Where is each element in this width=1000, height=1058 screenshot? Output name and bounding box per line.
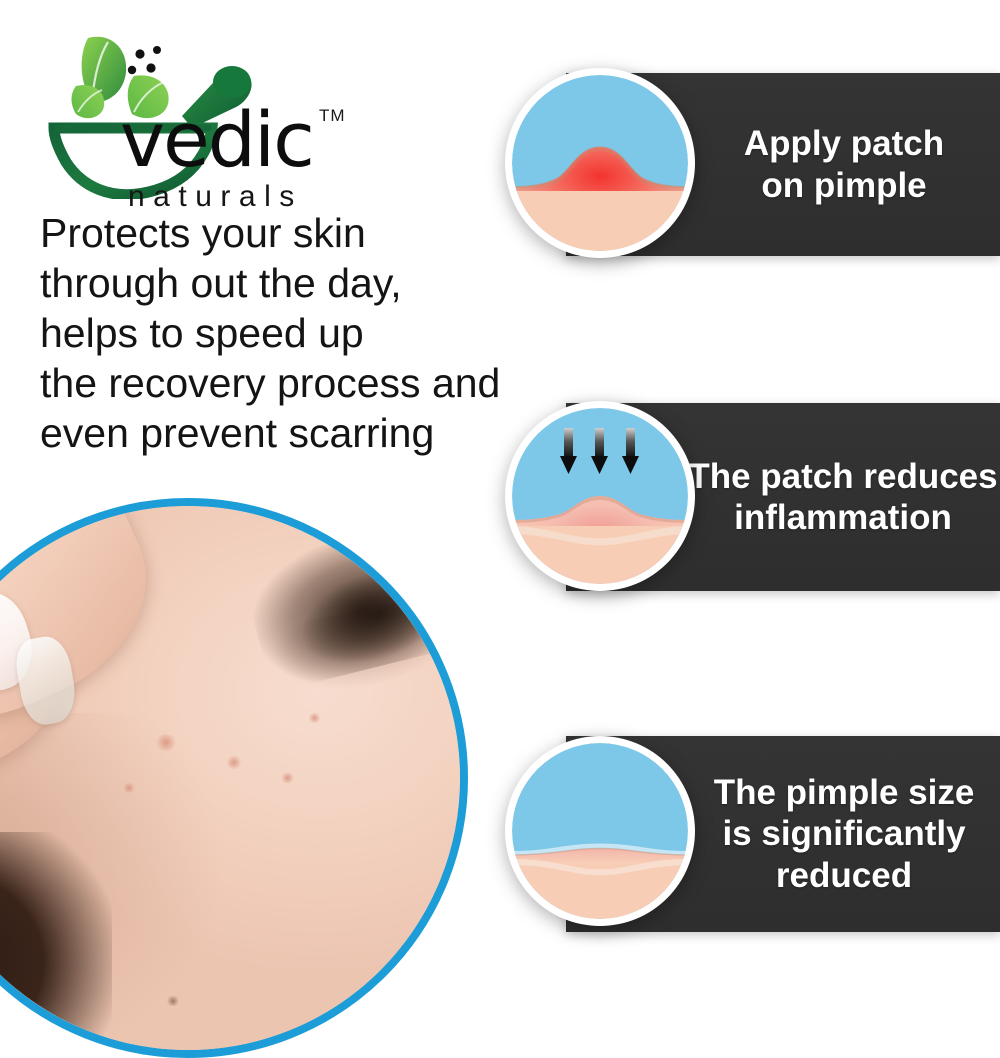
photo-blemish-3 <box>280 773 294 784</box>
step-3-illustration <box>505 736 695 926</box>
photo-blemish-1 <box>155 734 177 750</box>
step-3-line-3: reduced <box>692 855 996 896</box>
brand-name: vedic <box>120 102 313 178</box>
headline-line-2: through out the day, <box>40 258 560 308</box>
photo-blemish-5 <box>308 713 321 723</box>
photo-blemish-4 <box>123 783 135 793</box>
headline-line-5: even prevent scarring <box>40 408 560 458</box>
step-2-illustration <box>505 401 695 591</box>
step-1-illustration <box>505 68 695 258</box>
headline-line-3: helps to speed up <box>40 308 560 358</box>
brand-logo: vedic TM naturals <box>36 24 336 199</box>
product-photo <box>0 498 468 1058</box>
step-1-line-2: on pimple <box>694 165 994 206</box>
headline-line-1: Protects your skin <box>40 208 560 258</box>
photo-hair-left <box>0 832 112 1050</box>
pimple-pressed-by-arrows-icon <box>512 408 688 584</box>
step-3-line-1: The pimple size <box>692 772 996 813</box>
headline-text: Protects your skin through out the day, … <box>40 208 560 458</box>
step-2-line-1: The patch reduces <box>686 456 1000 497</box>
pimple-flat-healed-icon <box>512 743 688 919</box>
photo-inner <box>0 506 460 1050</box>
step-2-line-2: inflammation <box>686 497 1000 538</box>
pimple-raised-inflamed-icon <box>512 75 688 251</box>
headline-line-4: the recovery process and <box>40 358 560 408</box>
step-1-line-1: Apply patch <box>694 123 994 164</box>
step-3-line-2: is significantly <box>692 813 996 854</box>
trademark-mark: TM <box>319 106 346 126</box>
